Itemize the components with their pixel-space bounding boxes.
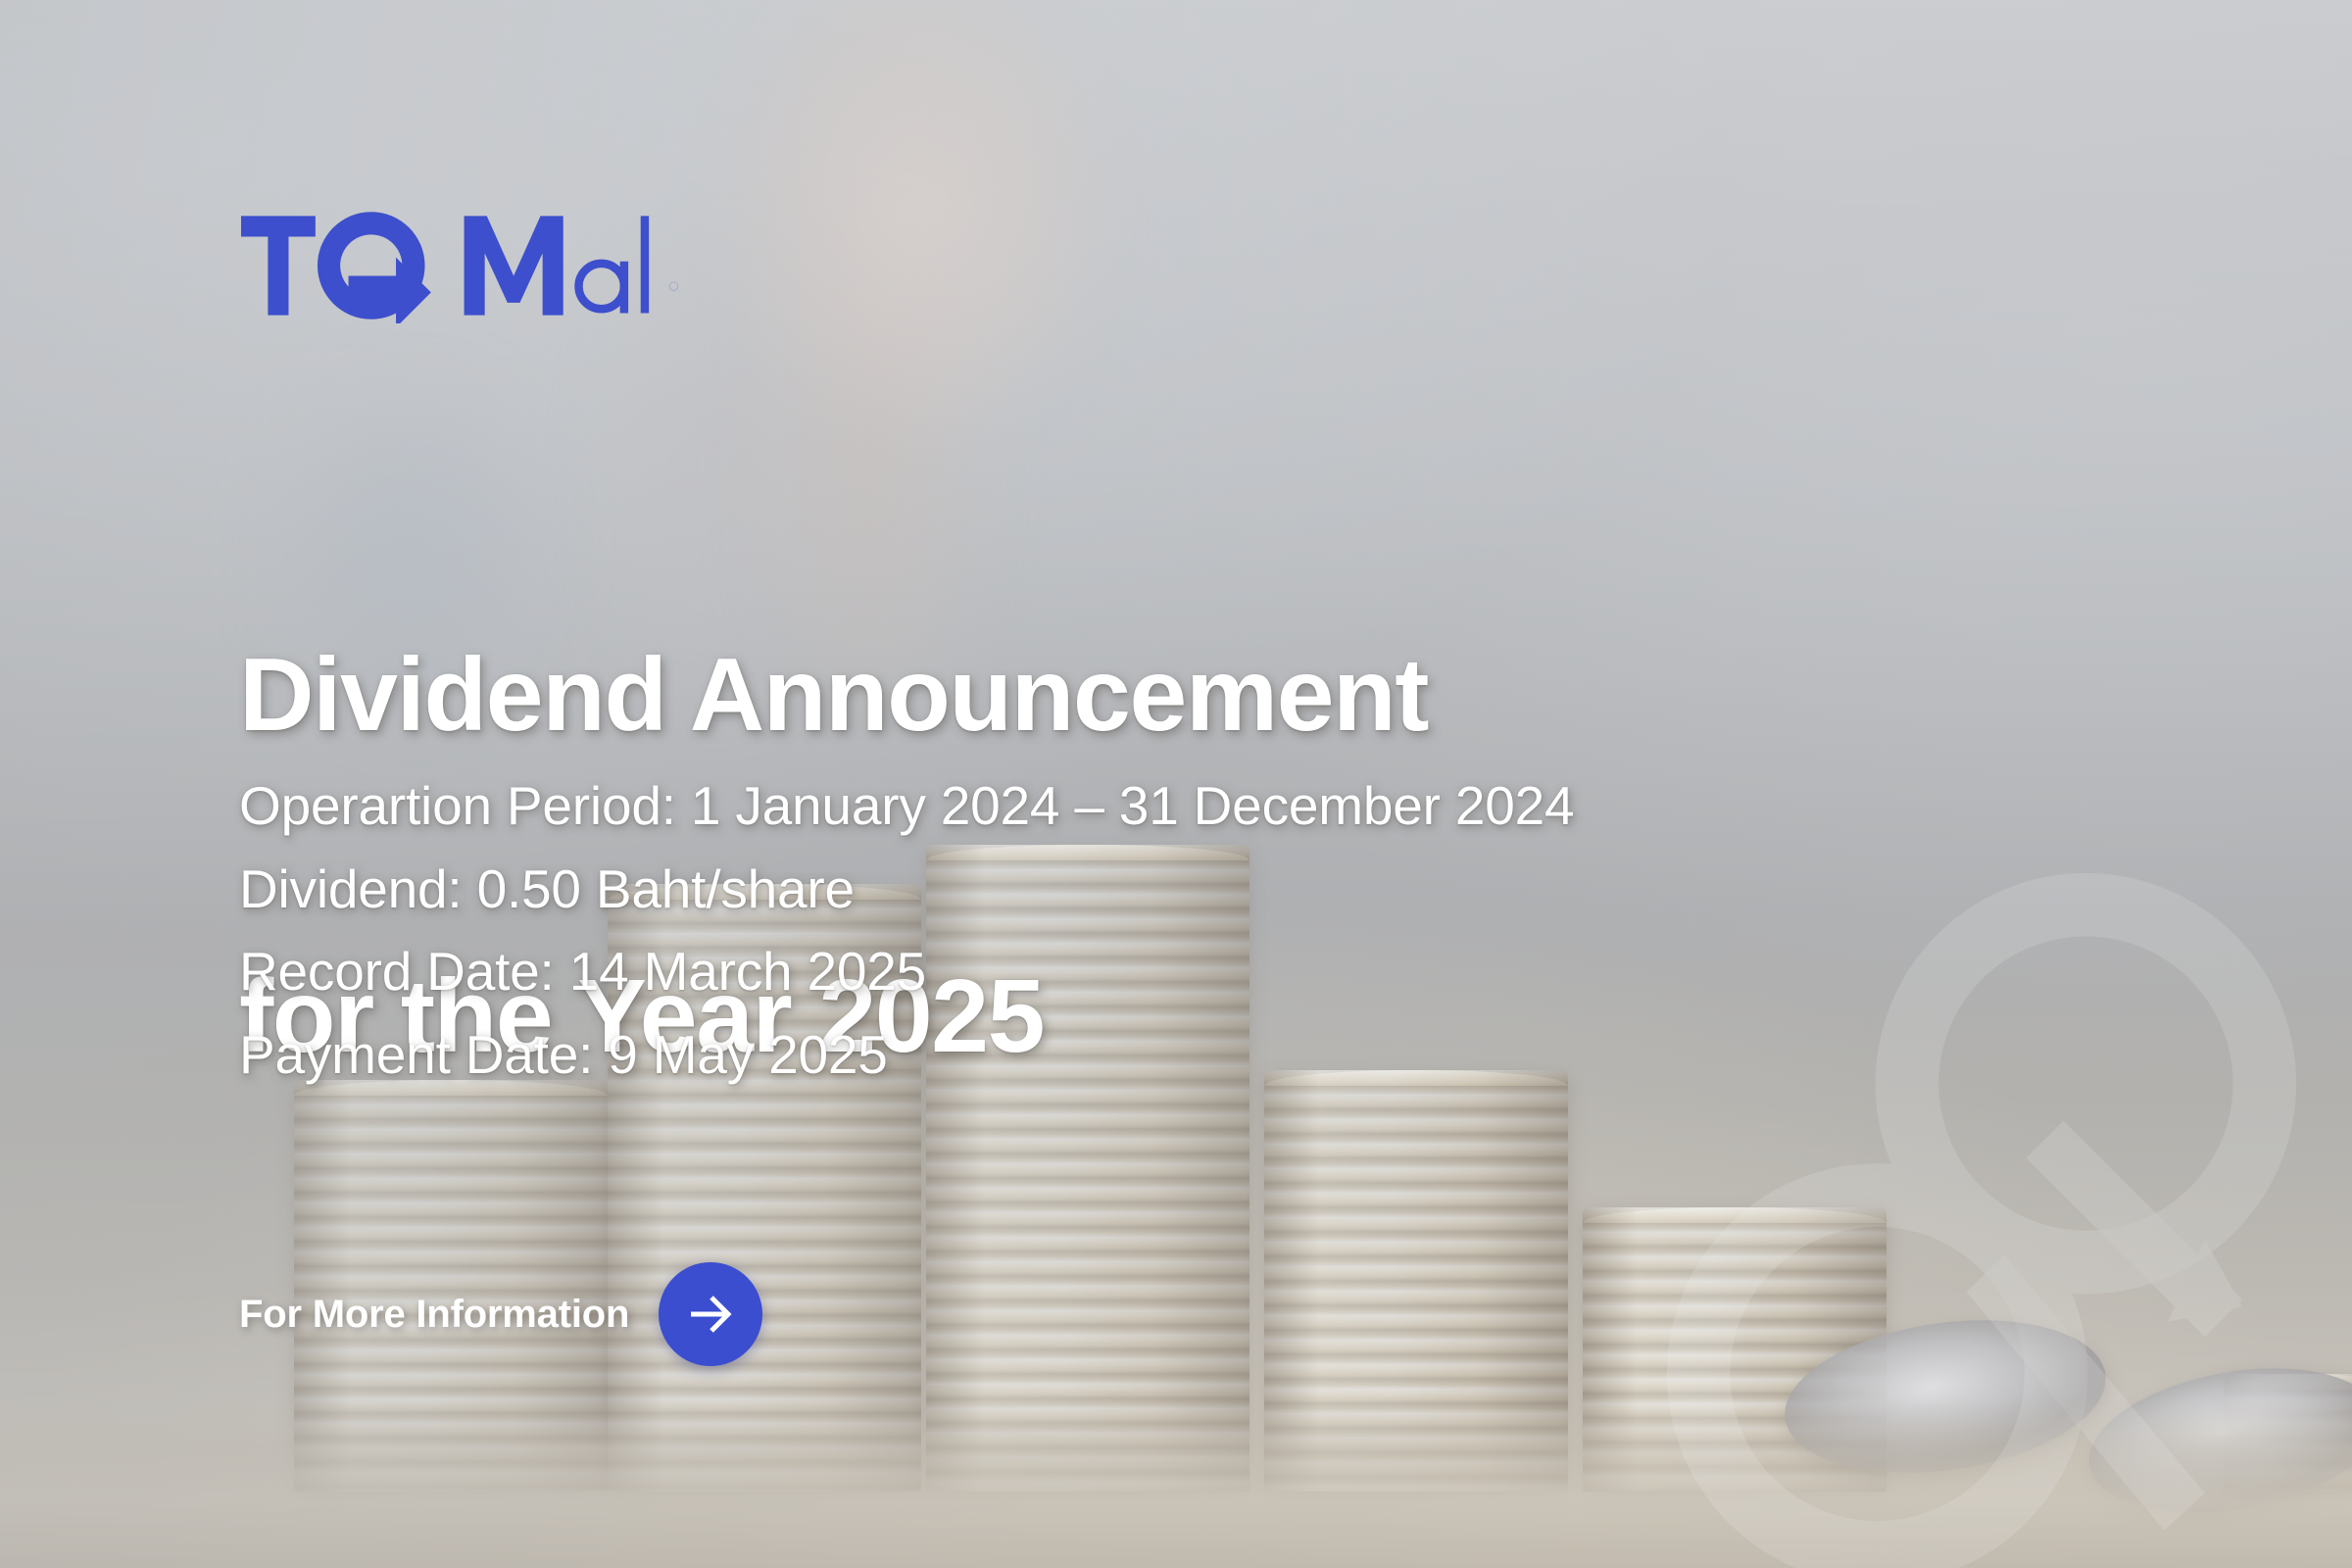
- detail-payment-date: Payment Date: 9 May 2025: [239, 1013, 1574, 1097]
- cta-label: For More Information: [239, 1293, 629, 1337]
- arrow-right-icon: [679, 1283, 742, 1346]
- banner-content: TQMalpha Dividend Announcement for the Y…: [0, 0, 2352, 1568]
- detail-record-date: Record Date: 14 March 2025: [239, 930, 1574, 1013]
- headline-line-1: Dividend Announcement: [239, 642, 1428, 749]
- dividend-details: Operartion Period: 1 January 2024 – 31 D…: [239, 764, 1574, 1097]
- more-information-cta[interactable]: For More Information: [239, 1262, 762, 1366]
- tqmalpha-logo[interactable]: TQMalpha: [241, 208, 685, 323]
- detail-operation-period: Operartion Period: 1 January 2024 – 31 D…: [239, 764, 1574, 848]
- arrow-right-button[interactable]: [659, 1262, 762, 1366]
- detail-dividend-amount: Dividend: 0.50 Baht/share: [239, 848, 1574, 931]
- dividend-announcement-banner: TQMalpha Dividend Announcement for the Y…: [0, 0, 2352, 1568]
- tqmalpha-logo-icon: [241, 208, 685, 323]
